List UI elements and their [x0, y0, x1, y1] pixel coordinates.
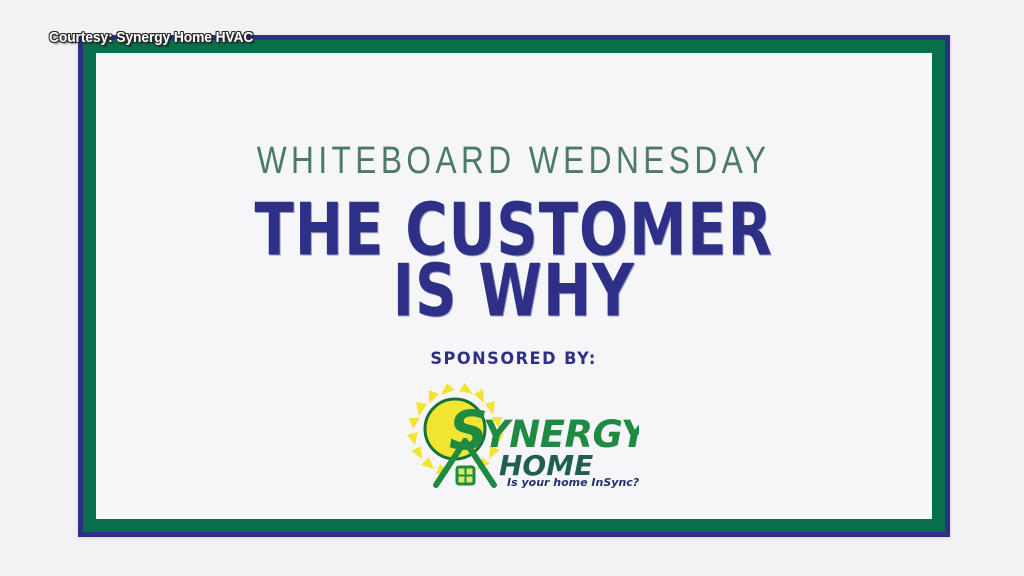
presentation-slide: WHITEBOARD WEDNESDAY THE CUSTOMER IS WHY…: [78, 35, 950, 537]
slide-content: WHITEBOARD WEDNESDAY THE CUSTOMER IS WHY…: [96, 53, 932, 519]
slide-kicker: WHITEBOARD WEDNESDAY: [257, 138, 771, 182]
logo-artwork: S YNERGY HOME Is your home InSync?: [389, 377, 639, 489]
video-frame: Courtesy: Synergy Home HVAC WHITEBOARD W…: [0, 0, 1024, 576]
logo-tagline: Is your home InSync?: [507, 476, 639, 489]
synergy-home-logo: S YNERGY HOME Is your home InSync?: [389, 377, 639, 489]
headline-line-2: IS WHY: [255, 257, 773, 323]
house-window-icon: [457, 467, 474, 484]
slide-headline: THE CUSTOMER IS WHY: [235, 201, 792, 319]
sponsored-by-label: SPONSORED BY:: [431, 349, 598, 369]
slide-green-border: WHITEBOARD WEDNESDAY THE CUSTOMER IS WHY…: [83, 40, 945, 532]
courtesy-credit: Courtesy: Synergy Home HVAC: [49, 29, 253, 46]
